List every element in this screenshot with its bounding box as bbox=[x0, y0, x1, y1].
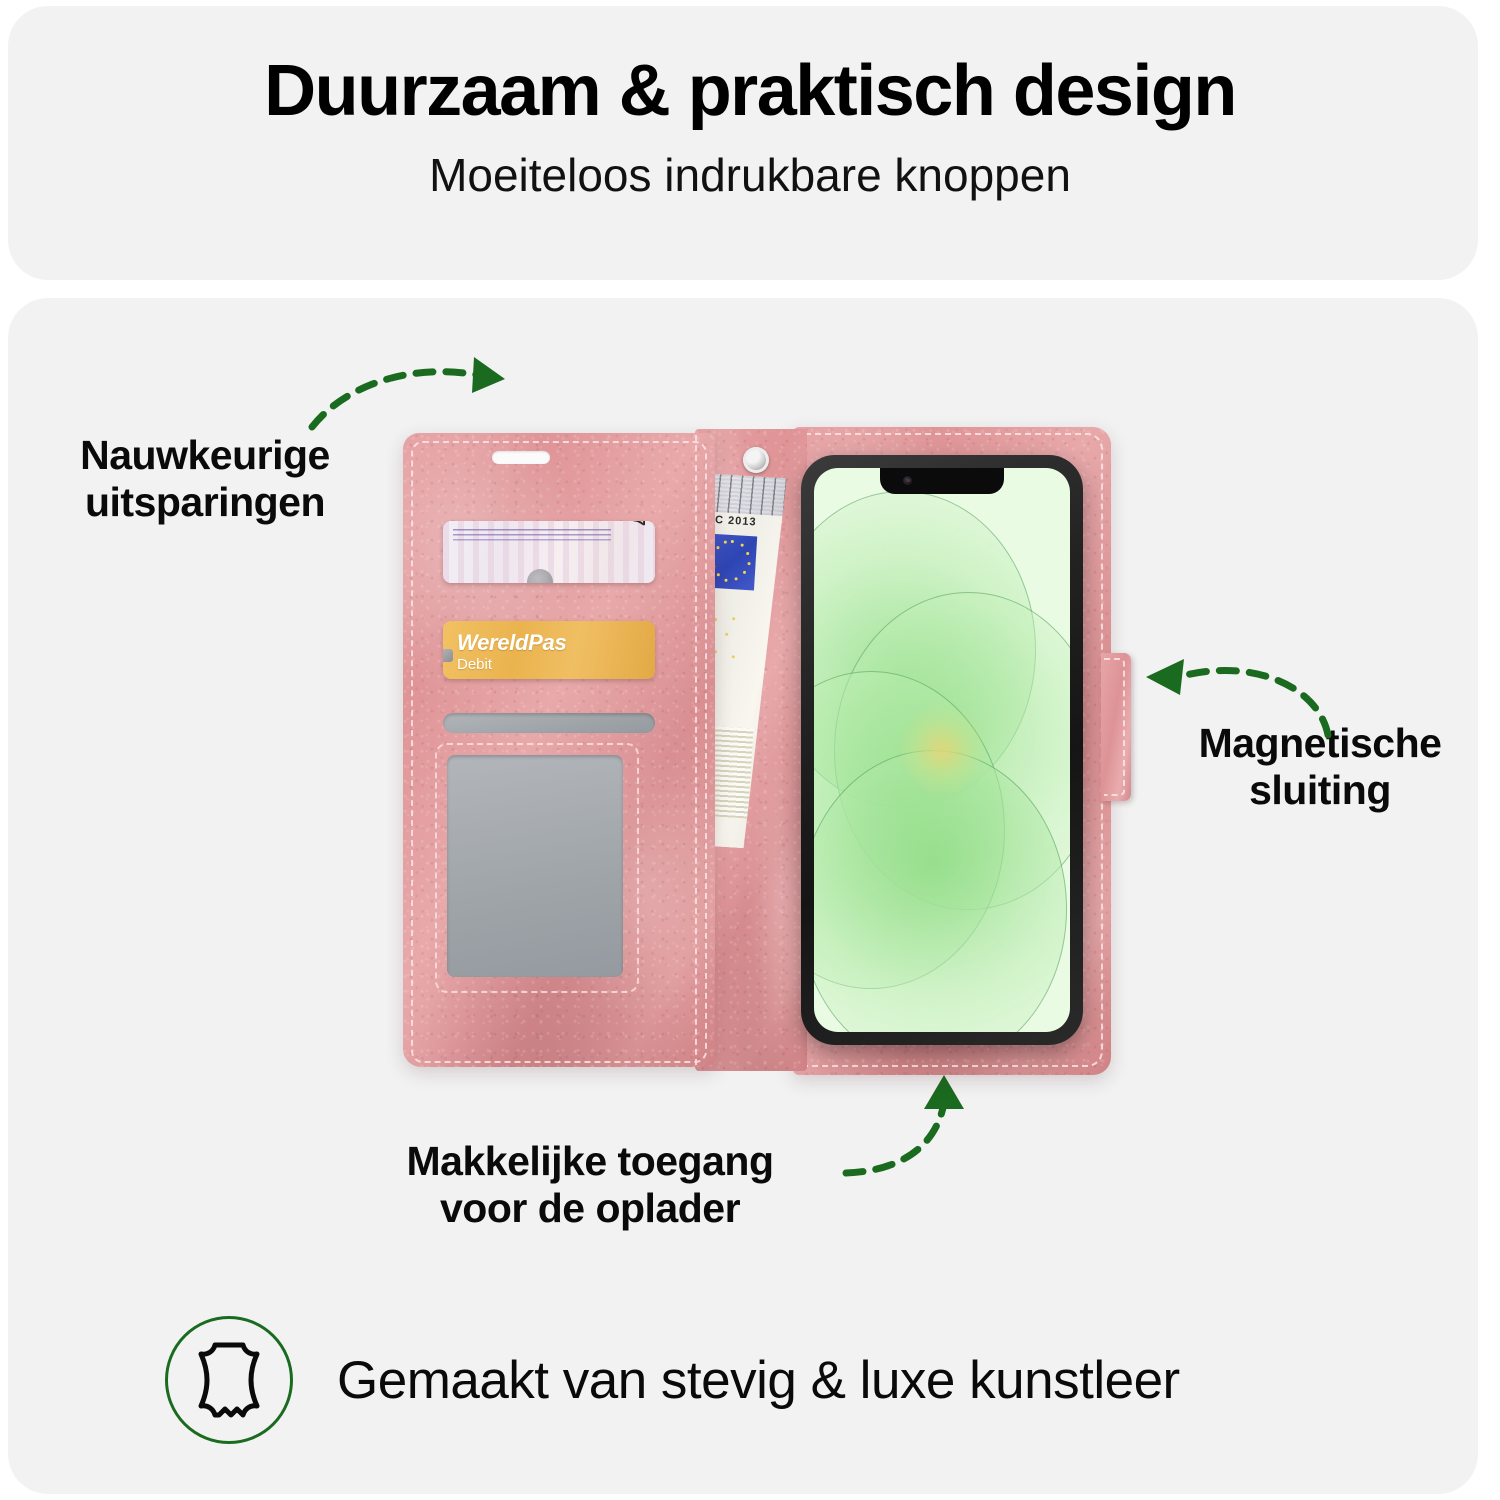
callout-charger-line2: voor de oplader bbox=[355, 1185, 825, 1232]
callout-charger: Makkelijke toegang voor de oplader bbox=[355, 1138, 825, 1232]
page-subtitle: Moeiteloos indrukbare knoppen bbox=[0, 152, 1500, 198]
curved-arrow-left-icon bbox=[1130, 655, 1340, 745]
callout-charger-line1: Makkelijke toegang bbox=[355, 1138, 825, 1185]
callout-cutouts-line1: Nauwkeurige bbox=[40, 432, 370, 479]
speaker-cutout bbox=[492, 451, 550, 464]
debit-card-type: Debit bbox=[457, 656, 492, 673]
callout-cutouts-line2: uitsparingen bbox=[40, 479, 370, 526]
magnetic-closure-tab bbox=[1101, 653, 1131, 801]
id-card-number: 797 bbox=[628, 521, 648, 527]
debit-card: WereldPas Debit bbox=[443, 621, 655, 679]
callout-magnetic-line2: sluiting bbox=[1160, 767, 1480, 814]
header-panel bbox=[8, 6, 1478, 280]
product-image: BC 2013 bbox=[395, 425, 1150, 1080]
curved-arrow-up-icon bbox=[840, 1075, 990, 1195]
id-card: 797 bbox=[443, 521, 655, 583]
curved-arrow-right-icon bbox=[300, 355, 530, 435]
card-slot-thin bbox=[443, 713, 655, 733]
card-chip-icon bbox=[443, 649, 453, 662]
phone-notch bbox=[880, 468, 1004, 494]
footer-text: Gemaakt van stevig & luxe kunstleer bbox=[337, 1350, 1180, 1411]
phone-device bbox=[801, 455, 1083, 1045]
page-title: Duurzaam & praktisch design bbox=[0, 55, 1500, 127]
wallpaper-glow bbox=[901, 705, 983, 795]
debit-card-brand: WereldPas bbox=[457, 630, 566, 656]
callout-cutouts: Nauwkeurige uitsparingen bbox=[40, 432, 370, 526]
banknote-hologram bbox=[707, 473, 787, 516]
camera-ring-icon bbox=[743, 447, 769, 473]
phone-screen bbox=[814, 468, 1070, 1032]
id-window bbox=[447, 755, 623, 977]
leather-hide-icon bbox=[165, 1316, 293, 1444]
leather-hide-glyph bbox=[193, 1339, 265, 1421]
footer-badge: Gemaakt van stevig & luxe kunstleer bbox=[165, 1315, 1365, 1445]
